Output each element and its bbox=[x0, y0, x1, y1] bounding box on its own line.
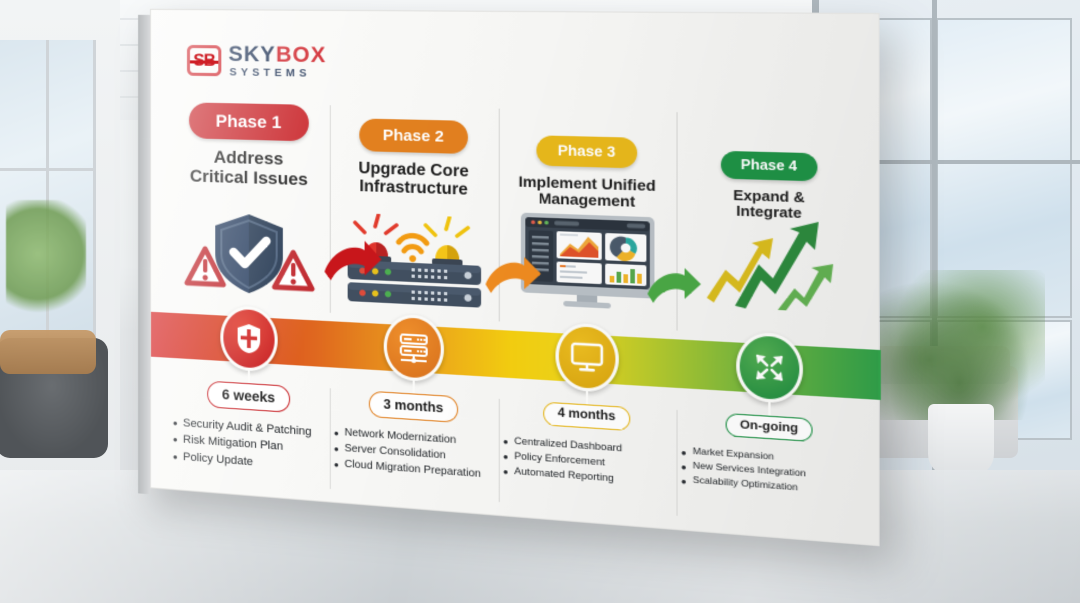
phase-bullets-3: Centralized Dashboard Policy Enforcement… bbox=[499, 432, 677, 491]
logo-mark-icon: SB bbox=[187, 45, 221, 76]
left-foliage bbox=[6, 200, 86, 320]
logo-name-box: BOX bbox=[276, 43, 326, 68]
phase-details-1: 6 weeks Security Audit & Patching Risk M… bbox=[169, 378, 330, 498]
logo-subtitle: SYSTEMS bbox=[228, 67, 326, 79]
office-chair-seat bbox=[0, 330, 96, 374]
illustration-1-shield-check-with-warnings bbox=[169, 204, 330, 304]
server-rack-icon bbox=[383, 313, 443, 382]
phase-details-3: 4 months Centralized Dashboard Policy En… bbox=[499, 399, 677, 526]
company-logo: SB SKYBOX SYSTEMS bbox=[187, 43, 326, 80]
duration-chip-3[interactable]: 4 months bbox=[543, 402, 630, 431]
board-left-edge bbox=[138, 15, 150, 494]
arrow-phase2-to-phase3 bbox=[483, 252, 547, 304]
monitor-icon bbox=[555, 322, 618, 393]
phase-column-1: Phase 1 Address Critical Issues bbox=[169, 98, 330, 321]
logo-mark-text: SB bbox=[193, 50, 215, 71]
potted-plant-foliage bbox=[880, 270, 1045, 420]
shield-check-icon bbox=[215, 213, 283, 295]
phase-badge-1[interactable]: Phase 1 bbox=[189, 102, 308, 141]
duration-chip-2[interactable]: 3 months bbox=[369, 391, 459, 423]
phase-title-1-line2: Critical Issues bbox=[175, 166, 324, 190]
plant-pot bbox=[928, 404, 994, 476]
phase-details-2: 3 months Network Modernization Server Co… bbox=[330, 388, 499, 511]
office-room-scene: SB SKYBOX SYSTEMS Phase 1 Address bbox=[0, 0, 1080, 603]
logo-name-sky: SKY bbox=[228, 42, 275, 66]
details-divider-2 bbox=[499, 399, 500, 502]
logo-wordmark: SKYBOX SYSTEMS bbox=[228, 43, 326, 79]
alarm-beacon-yellow-icon bbox=[425, 217, 467, 267]
phase-details-4: On-going Market Expansion New Services I… bbox=[676, 410, 863, 541]
duration-chip-4[interactable]: On-going bbox=[726, 413, 813, 442]
arrow-phase3-to-phase4 bbox=[645, 263, 712, 317]
shield-cross-icon bbox=[220, 305, 277, 372]
details-divider-1 bbox=[330, 388, 331, 489]
expand-arrows-icon bbox=[736, 331, 803, 404]
wall-infographic-board: SB SKYBOX SYSTEMS Phase 1 Address bbox=[150, 9, 904, 603]
arrow-phase1-to-phase2 bbox=[322, 236, 383, 287]
phase-badge-2[interactable]: Phase 2 bbox=[359, 118, 467, 154]
phase-badge-4[interactable]: Phase 4 bbox=[721, 151, 818, 181]
phase-title-3: Implement Unified Management bbox=[505, 173, 669, 212]
phase-badge-3[interactable]: Phase 3 bbox=[536, 135, 637, 168]
phase-bullets-1: Security Audit & Patching Risk Mitigatio… bbox=[169, 413, 330, 477]
duration-chip-1[interactable]: 6 weeks bbox=[207, 381, 291, 413]
phase-bullets-2: Network Modernization Server Consolidati… bbox=[330, 423, 499, 484]
phase-column-2: Phase 2 Upgrade Core Infrastructure bbox=[330, 101, 499, 330]
phase-title-2: Upgrade Core Infrastructure bbox=[336, 159, 492, 201]
phase-bullets-4: Market Expansion New Services Integratio… bbox=[676, 443, 863, 499]
details-divider-3 bbox=[676, 410, 677, 516]
wifi-signal-icon bbox=[398, 235, 426, 263]
phase-title-1: Address Critical Issues bbox=[175, 146, 324, 190]
